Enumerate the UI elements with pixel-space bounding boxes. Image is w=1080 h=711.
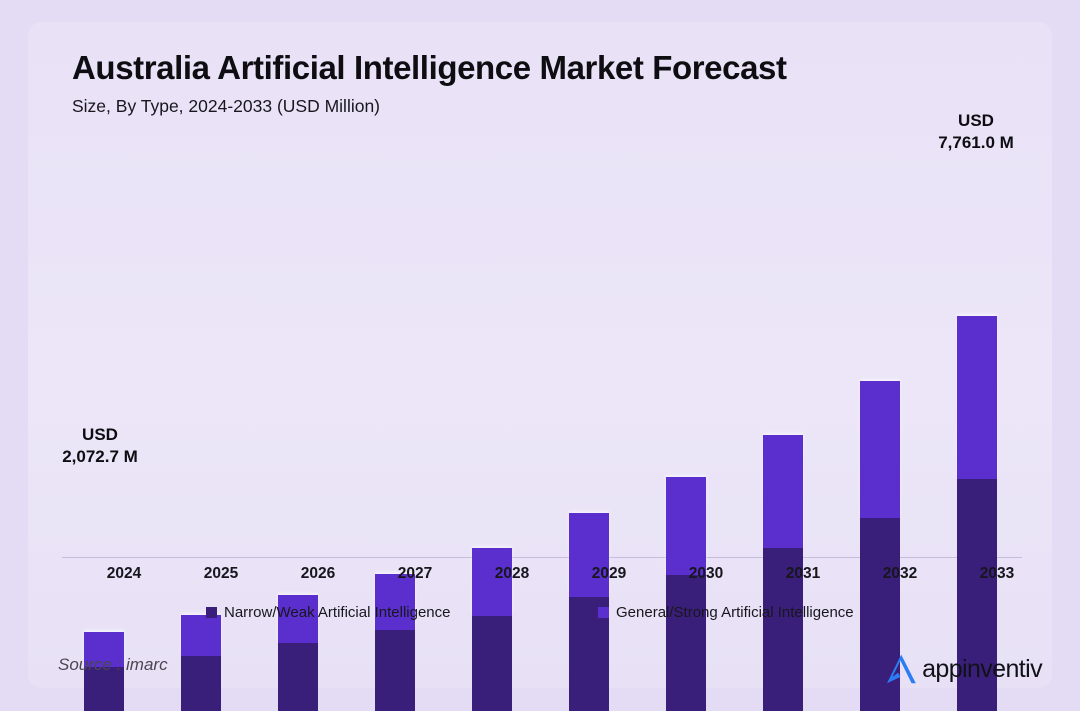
source-note: Source : imarc bbox=[58, 655, 168, 675]
logo-wordmark: appinventiv bbox=[922, 657, 1042, 682]
value-callout-2033: USD 7,761.0 M bbox=[890, 110, 1062, 155]
callout-currency: USD bbox=[14, 424, 186, 446]
appinventiv-a-mark-icon bbox=[884, 653, 918, 685]
legend-item-narrow[interactable]: Narrow/Weak Artificial Intelligence bbox=[206, 604, 450, 621]
chart-page: Australia Artificial Intelligence Market… bbox=[0, 0, 1080, 711]
callout-value: 7,761.0 M bbox=[890, 132, 1062, 154]
chart-legend: Narrow/Weak Artificial Intelligence Gene… bbox=[62, 604, 1022, 628]
chart-header: Australia Artificial Intelligence Market… bbox=[72, 50, 1012, 117]
page-title: Australia Artificial Intelligence Market… bbox=[72, 50, 1012, 87]
callout-currency: USD bbox=[890, 110, 1062, 132]
callout-value: 2,072.7 M bbox=[14, 446, 186, 468]
value-callout-2024: USD 2,072.7 M bbox=[14, 424, 186, 469]
legend-swatch-icon bbox=[206, 607, 217, 618]
legend-item-general[interactable]: General/Strong Artificial Intelligence bbox=[598, 604, 854, 621]
appinventiv-logo: appinventiv bbox=[884, 653, 1042, 685]
legend-swatch-icon bbox=[598, 607, 609, 618]
chart-subtitle: Size, By Type, 2024-2033 (USD Million) bbox=[72, 96, 1012, 117]
legend-label-general: General/Strong Artificial Intelligence bbox=[616, 604, 854, 621]
legend-label-narrow: Narrow/Weak Artificial Intelligence bbox=[224, 604, 450, 621]
